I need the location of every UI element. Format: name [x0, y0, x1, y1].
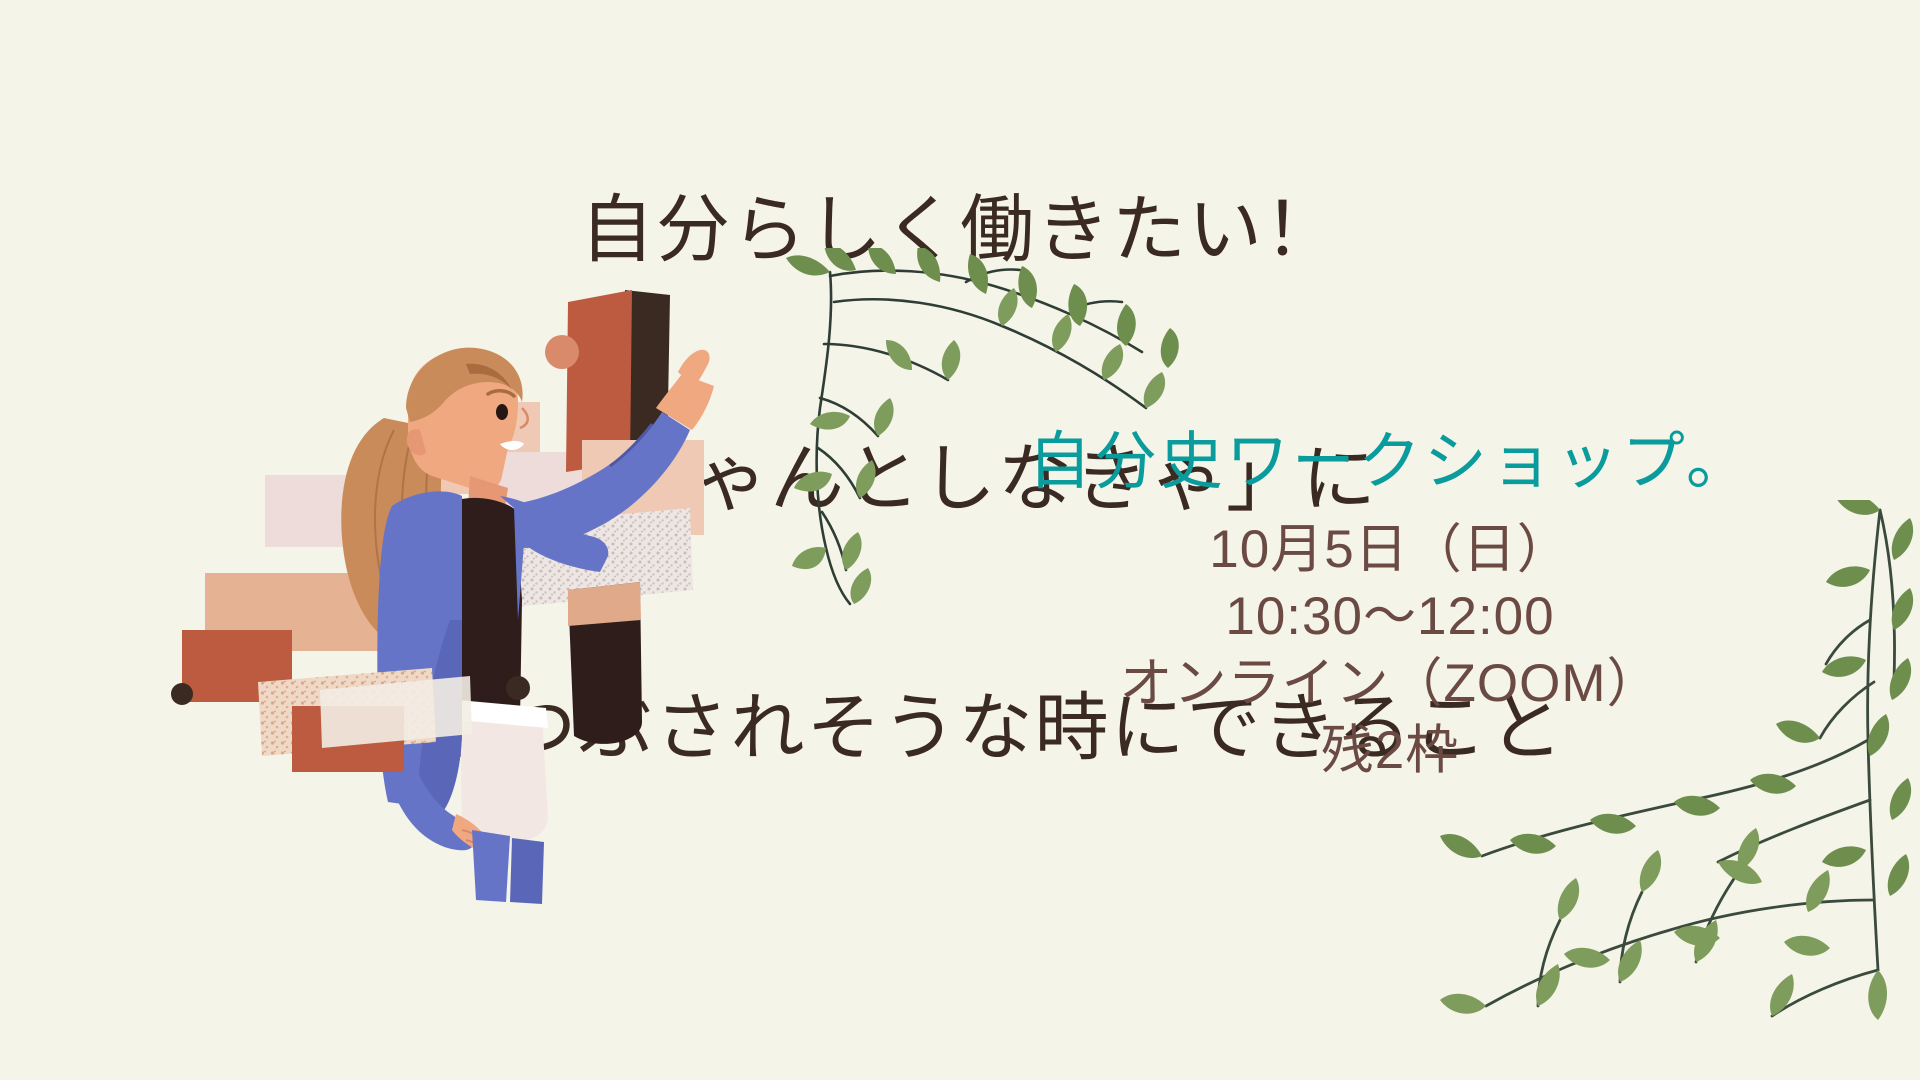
event-seats: 残2枠 [920, 717, 1860, 784]
accent-circle [545, 335, 579, 369]
hero-illustration [170, 290, 790, 970]
workshop-title: 自分史ワークショップ。 [880, 424, 1900, 500]
poster-canvas: 自分らしく働きたい！ 「ちゃんとしなきゃ」に 押しつぶされそうな時にできること [0, 0, 1920, 1080]
event-location: オンライン（ZOOM） [920, 650, 1860, 717]
event-details: 10月5日（日） 10:30〜12:00 オンライン（ZOOM） 残2枠 [920, 516, 1860, 784]
event-date: 10月5日（日） [920, 516, 1860, 583]
collage-panel-dark [568, 582, 642, 744]
event-time: 10:30〜12:00 [920, 583, 1860, 650]
